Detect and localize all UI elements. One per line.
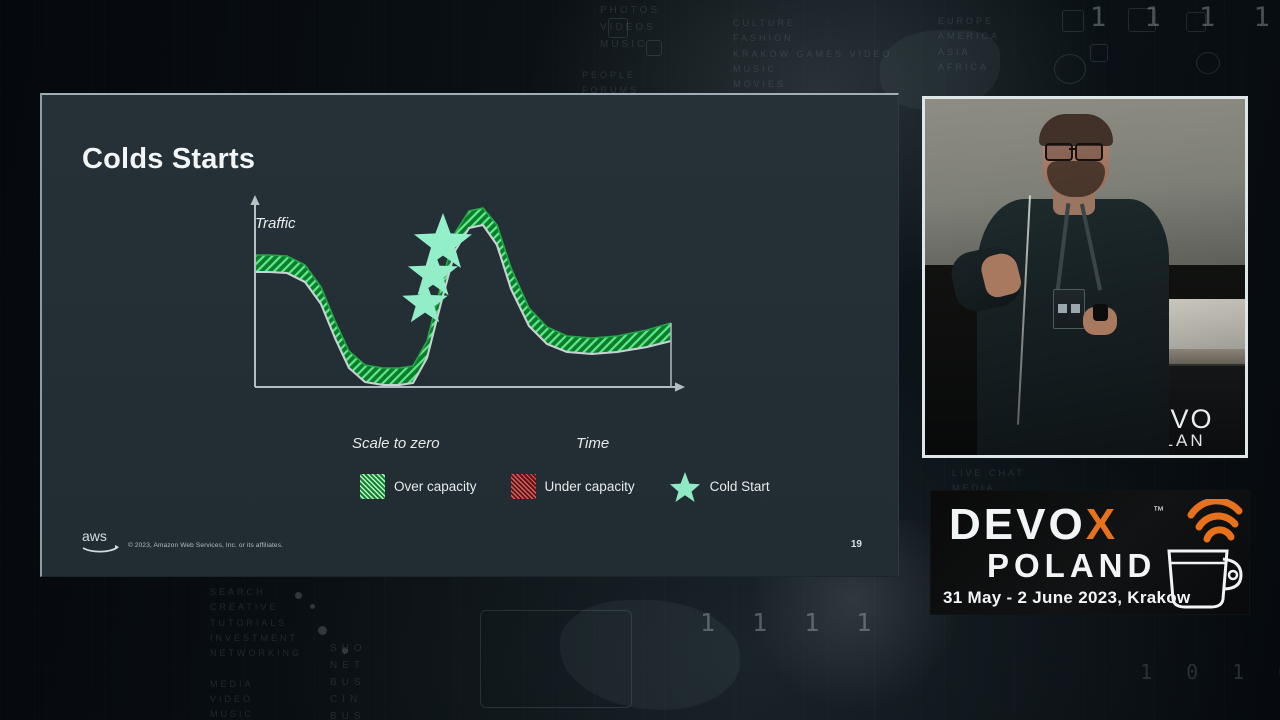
legend-item-under-capacity[interactable]: Under capacity [511,474,635,499]
svg-text:aws: aws [82,528,107,544]
presentation-slide[interactable]: Colds Starts Traffic Time Scale to zero [40,93,899,577]
page-title: Colds Starts [82,143,255,176]
speaker-video-feed[interactable]: DEVO POLAN [922,96,1248,458]
devoxx-wordmark: DEVOX [949,503,1118,547]
devoxx-wordmark-x: X [1086,500,1118,549]
slide-page-number: 19 [851,539,862,550]
presentation-clicker [1093,304,1108,321]
cold-starts-chart [247,195,727,465]
aws-logo: aws [82,528,120,554]
devoxx-country: POLAND [987,549,1156,582]
legend-label: Under capacity [545,479,635,494]
y-axis-arrow-icon [250,195,259,205]
speaker-glasses-icon [1045,143,1107,157]
cold-start-star-icon [669,471,701,502]
x-axis-arrow-icon [675,382,685,391]
under-capacity-swatch-icon [511,474,536,499]
speaker-hair [1039,114,1113,146]
screen: PHOTOS VIDEOS MUSIC CULTURE FASHION KRAK… [0,0,1280,720]
chart-svg [247,195,727,465]
devoxx-banner: DEVOX ™ POLAND 31 May - 2 June 2023, Kra… [930,490,1250,615]
legend-label: Over capacity [394,479,477,494]
conference-badge [1053,289,1085,329]
devoxx-wordmark-prefix: DEVO [949,500,1086,549]
chart-legend: Over capacity Under capacity Cold Start [360,471,804,502]
copyright-text: © 2023, Amazon Web Services, Inc. or its… [128,542,283,549]
over-capacity-band [247,195,727,465]
legend-item-over-capacity[interactable]: Over capacity [360,474,477,499]
legend-label: Cold Start [710,479,770,494]
traffic-curve [255,225,671,385]
laptop [1160,299,1248,354]
over-capacity-swatch-icon [360,474,385,499]
legend-item-cold-start[interactable]: Cold Start [669,471,770,502]
coffee-cup-icon [1153,499,1245,615]
